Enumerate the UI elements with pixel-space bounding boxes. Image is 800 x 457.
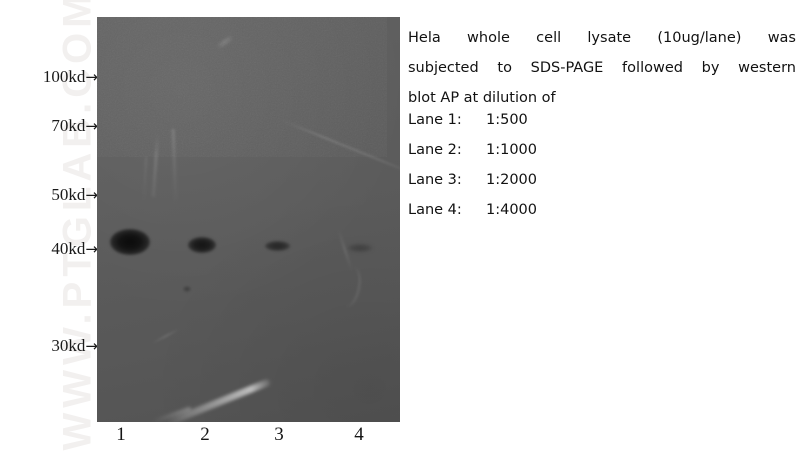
lane-number-row: 1 2 3 4 — [97, 425, 400, 453]
caption-description: Hela whole cell lysate (10ug/lane) was s… — [408, 23, 796, 113]
dilution-list: Lane 1: 1:500 Lane 2: 1:1000 Lane 3: 1:2… — [408, 112, 708, 232]
dilution-lane-1-value: 1:500 — [486, 112, 528, 128]
dilution-row-lane-2: Lane 2: 1:1000 — [408, 142, 708, 172]
dilution-lane-2-label: Lane 2: — [408, 142, 486, 158]
mw-marker-100kd-label: 100kd — [43, 67, 86, 86]
blot-membrane — [97, 17, 400, 422]
lane-number-1: 1 — [106, 425, 136, 444]
mw-marker-70kd: 70kd→ — [0, 117, 97, 134]
mw-marker-70kd-arrow-icon: → — [85, 117, 97, 135]
protein-band-lane-2 — [188, 237, 216, 253]
mw-marker-30kd-arrow-icon: → — [85, 337, 97, 355]
mw-marker-30kd-label: 30kd — [51, 336, 85, 355]
artifact-bright-streak-bottom — [165, 378, 271, 422]
artifact-smudge-right-lower — [336, 265, 364, 308]
caption-line-3: blot AP at dilution of — [408, 83, 796, 113]
artifact-scratch-diagonal-mid — [337, 229, 352, 271]
lane-number-3: 3 — [264, 425, 294, 444]
artifact-scratch-short-mid-left — [152, 328, 179, 344]
dilution-lane-4-value: 1:4000 — [486, 202, 537, 218]
lane-number-2: 2 — [190, 425, 220, 444]
artifact-bright-streak-bottom-tail — [153, 406, 192, 422]
artifact-speck-below-lane-2 — [183, 286, 191, 292]
artifact-scratch-vertical-b — [172, 129, 178, 207]
dilution-lane-4-label: Lane 4: — [408, 202, 486, 218]
dilution-lane-3-label: Lane 3: — [408, 172, 486, 188]
mw-marker-100kd-arrow-icon: → — [85, 68, 97, 86]
mw-marker-70kd-label: 70kd — [51, 116, 85, 135]
artifact-scratch-diagonal-upper-right — [280, 119, 400, 177]
dilution-row-lane-3: Lane 3: 1:2000 — [408, 172, 708, 202]
protein-band-lane-4 — [348, 244, 372, 252]
dilution-row-lane-1: Lane 1: 1:500 — [408, 112, 708, 142]
caption-line-1: Hela whole cell lysate (10ug/lane) was — [408, 23, 796, 53]
protein-band-lane-3 — [265, 241, 290, 251]
caption-panel: Hela whole cell lysate (10ug/lane) was s… — [405, 0, 800, 457]
dilution-lane-3-value: 1:2000 — [486, 172, 537, 188]
mw-marker-50kd-arrow-icon: → — [85, 186, 97, 204]
protein-band-lane-1 — [110, 229, 150, 255]
mw-marker-50kd-label: 50kd — [51, 185, 85, 204]
artifact-scratch-vertical-c — [143, 157, 147, 203]
mw-marker-40kd: 40kd→ — [0, 240, 97, 257]
mw-marker-40kd-label: 40kd — [51, 239, 85, 258]
mw-marker-50kd: 50kd→ — [0, 186, 97, 203]
lane-number-4: 4 — [344, 425, 374, 444]
dilution-row-lane-4: Lane 4: 1:4000 — [408, 202, 708, 232]
molecular-weight-ladder: 100kd→ 70kd→ 50kd→ 40kd→ 30kd→ — [0, 0, 97, 457]
western-blot-figure: WWW.PTGLAB.COM 100kd→ 70kd→ 50kd→ 40kd→ … — [0, 0, 400, 457]
film-grain-texture — [97, 17, 387, 157]
caption-line-2: subjected to SDS-PAGE followed by wester… — [408, 53, 796, 83]
dilution-lane-2-value: 1:1000 — [486, 142, 537, 158]
mw-marker-30kd: 30kd→ — [0, 337, 97, 354]
mw-marker-40kd-arrow-icon: → — [85, 240, 97, 258]
mw-marker-100kd: 100kd→ — [0, 68, 97, 85]
artifact-smudge-top — [217, 35, 234, 49]
dilution-lane-1-label: Lane 1: — [408, 112, 486, 128]
artifact-scratch-vertical-a — [152, 135, 159, 197]
